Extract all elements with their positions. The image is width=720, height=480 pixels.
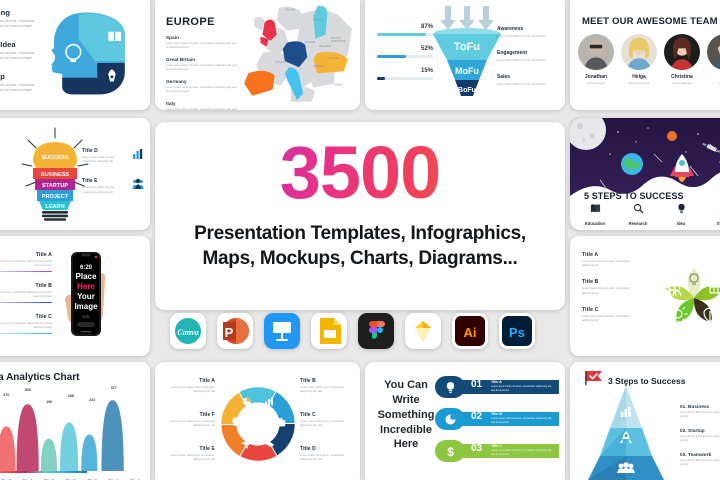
step-label: Education xyxy=(576,221,614,226)
member-role: UI/UX Designer xyxy=(578,82,614,86)
list-item: Title A Lorem ipsum dolor sit amet, cons… xyxy=(0,252,52,272)
svg-text:PROJECT: PROJECT xyxy=(42,194,69,200)
step-pill xyxy=(435,408,465,430)
head-puzzle-labels: Thinking Lorem ipsum dolor sit amet, con… xyxy=(0,8,40,104)
list-item: 03. Teamwork Lorem ipsum dolor sit amet,… xyxy=(680,452,720,467)
bulb-right-items: Title D Lorem ipsum dolor sit amet, cons… xyxy=(82,148,144,209)
avatar xyxy=(578,34,614,70)
book-icon xyxy=(590,203,601,214)
svg-text:ICELAND: ICELAND xyxy=(285,8,296,11)
list-item: Title B Lorem ipsum dolor sit amet, cons… xyxy=(582,279,630,295)
hero-number: 3500 xyxy=(155,136,565,210)
europe-country-list: Spain Lorem ipsum dolor sit amet, consec… xyxy=(166,35,238,110)
svg-text:LEARN: LEARN xyxy=(45,204,64,210)
metric-value: 87% xyxy=(377,24,433,30)
canva-icon[interactable]: Canva xyxy=(170,313,206,349)
value-label: 270 xyxy=(0,386,17,400)
member-name: Helga xyxy=(621,74,657,80)
item-label: Startup xyxy=(0,72,40,81)
avatar xyxy=(621,34,657,70)
card-team[interactable]: MEET OUR AWESOME TEAM Jonathan UI/UX Des… xyxy=(570,0,720,110)
step-title: Title A xyxy=(491,380,502,384)
item-desc: Lorem ipsum dolor sit amet, consectetur … xyxy=(82,186,128,194)
step-row: $ 03 Title C Lorem ipsum dolor sit amet,… xyxy=(435,440,559,462)
item-label: Title E xyxy=(169,446,215,452)
item-label: Title C xyxy=(0,314,52,320)
item-label: Thinking xyxy=(0,8,40,17)
card-europe-map[interactable]: EUROPE Spain Lorem ipsum dolor sit amet,… xyxy=(155,0,360,110)
card-space-steps[interactable]: 5 STEPS TO SUCCESS Education Research Id… xyxy=(570,118,720,230)
chart-plot xyxy=(0,390,146,471)
svg-text:FEDERATION: FEDERATION xyxy=(331,40,347,43)
item-label: Title D xyxy=(82,148,128,154)
funnel-graphic: ToFu MoFu BoFu xyxy=(427,2,507,102)
list-item: Thinking Lorem ipsum dolor sit amet, con… xyxy=(0,8,40,29)
card-circle-process[interactable]: Title A Lorem ipsum dolor amet, consecte… xyxy=(155,362,360,480)
value-label: 288 xyxy=(60,386,82,400)
list-item: Title F Lorem ipsum dolor amet, consecte… xyxy=(169,412,215,428)
svg-text:TURKEY: TURKEY xyxy=(334,84,344,87)
list-item: Title E Lorem ipsum dolor amet, consecte… xyxy=(169,446,215,462)
list-item: Jonathan UI/UX Designer xyxy=(578,34,614,86)
svg-text:Your: Your xyxy=(77,292,95,301)
list-item: Germany Lorem ipsum dolor sit amet, cons… xyxy=(166,79,238,94)
circle-process-graphic xyxy=(218,374,298,474)
svg-text:ToFu: ToFu xyxy=(454,41,480,53)
item-label: Title A xyxy=(169,378,215,384)
funnel-metric: 87% xyxy=(377,24,433,36)
list-item: Title D Lorem ipsum dolor sit amet, cons… xyxy=(82,148,144,164)
list-item: Christina Account Manager xyxy=(664,34,700,86)
svg-text:STARTUP: STARTUP xyxy=(42,183,68,189)
funnel-stage-info: Awareness Lorem ipsum dolor sit amet, co… xyxy=(497,26,557,38)
item-label: Title C xyxy=(582,307,630,313)
item-desc: Lorem ipsum dolor amet, consectetur adip… xyxy=(300,420,346,428)
step-number: 01 xyxy=(471,379,482,390)
svg-text:Ai: Ai xyxy=(464,325,477,340)
list-item: Startup xyxy=(705,201,720,226)
svg-text:UKRAINE: UKRAINE xyxy=(328,57,339,60)
list-item: 02. Startup Lorem ipsum dolor sit amet, … xyxy=(680,428,720,443)
item-label: Title D xyxy=(300,446,346,452)
lightbulb-icon xyxy=(676,203,687,214)
card-eco-petals[interactable]: Title A Lorem ipsum dolor sit amet, cons… xyxy=(570,236,720,356)
chart-title: Data Analytics Chart xyxy=(0,372,79,383)
card-three-steps[interactable]: You Can Write Something Incredible Here … xyxy=(365,362,565,480)
step-desc: Lorem ipsum dolor sit amet, consectetur … xyxy=(491,417,555,425)
item-desc: Lorem ipsum dolor sit amet, consectetur … xyxy=(166,64,238,72)
europe-map-graphic: RUSSIANFEDERATION UKRAINEPOLAND FRANCETU… xyxy=(234,0,356,106)
item-label: Italy xyxy=(166,101,238,106)
stage-title: Sales xyxy=(497,74,557,80)
space-steps-list: Education Research Idea Startu xyxy=(576,201,720,226)
item-desc: Lorem ipsum dolor sit amet, consectetur … xyxy=(0,83,40,93)
item-desc: Lorem ipsum dolor sit amet, consectetur … xyxy=(582,260,630,268)
card-head-puzzle[interactable]: Thinking Lorem ipsum dolor sit amet, con… xyxy=(0,0,150,110)
chart-axis xyxy=(0,471,87,473)
card-data-analytics[interactable]: Data Analytics Chart Title A Title B Ti xyxy=(0,362,150,480)
powerpoint-icon[interactable]: P xyxy=(217,313,253,349)
svg-text:SWEDEN: SWEDEN xyxy=(313,18,324,21)
step-number: 03 xyxy=(471,443,482,454)
step-pill xyxy=(435,376,465,398)
list-item: Title A Lorem ipsum dolor amet, consecte… xyxy=(169,378,215,394)
item-desc: Lorem ipsum dolor sit amet, consectetur … xyxy=(582,315,630,323)
list-item: Research xyxy=(619,201,657,226)
list-item: Title C Lorem ipsum dolor sit amet, cons… xyxy=(0,314,52,334)
magnifier-icon xyxy=(633,203,644,214)
stage-title: Awareness xyxy=(497,26,557,32)
svg-text:$: $ xyxy=(447,445,454,458)
item-label: Title F xyxy=(169,412,215,418)
item-label: Title B xyxy=(300,378,346,384)
item-desc: Lorem ipsum dolor sit amet, consectetur … xyxy=(0,260,52,268)
list-item: Great Britain Lorem ipsum dolor sit amet… xyxy=(166,57,238,72)
progress-bar xyxy=(377,55,433,58)
svg-text:POLAND: POLAND xyxy=(305,41,315,44)
item-desc: Lorem ipsum dolor sit amet, consectetur … xyxy=(0,291,52,299)
step-desc: Lorem ipsum dolor sit amet, consectetur … xyxy=(491,385,555,393)
member-role: Account Manager xyxy=(664,82,700,86)
bar-chart-icon xyxy=(132,148,144,160)
svg-text:BoFu: BoFu xyxy=(458,87,476,94)
pyramid-labels: 01. Business Lorem ipsum dolor sit amet,… xyxy=(680,404,720,476)
pie-chart-icon xyxy=(444,413,457,426)
list-item: Title B Lorem ipsum dolor amet, consecte… xyxy=(300,378,346,394)
item-desc: Lorem ipsum dolor sit amet, consectetur … xyxy=(582,287,630,295)
funnel-metric: 15% xyxy=(377,68,433,80)
item-desc: Lorem ipsum dolor amet, consectetur adip… xyxy=(169,454,215,462)
svg-text:6:20: 6:20 xyxy=(83,315,90,319)
pyramid-graphic xyxy=(584,384,668,480)
list-item: Title A Lorem ipsum dolor sit amet, cons… xyxy=(582,252,630,268)
chart-value-labels: 355 270 530 190 288 221 377 xyxy=(0,386,146,400)
underline xyxy=(0,302,52,304)
avatar xyxy=(707,34,720,70)
people-icon xyxy=(132,178,144,190)
google-slides-icon[interactable] xyxy=(311,313,347,349)
dollar-icon: $ xyxy=(444,445,457,458)
petal-labels: Title A Lorem ipsum dolor sit amet, cons… xyxy=(582,252,630,334)
list-item: Education xyxy=(576,201,614,226)
item-label: Title A xyxy=(0,252,52,258)
list-item: Title E Lorem ipsum dolor sit amet, cons… xyxy=(82,178,144,194)
hero-card[interactable]: 3500 Presentation Templates, Infographic… xyxy=(155,122,565,310)
step-title: Title B xyxy=(491,412,502,416)
item-desc: Lorem ipsum dolor sit amet, consectetur … xyxy=(0,322,52,330)
svg-text:P: P xyxy=(225,325,234,340)
step-label: Research xyxy=(619,221,657,226)
value-label: 530 xyxy=(17,386,39,400)
step-title: Title C xyxy=(491,444,502,448)
svg-text:ROMANIA: ROMANIA xyxy=(313,65,325,68)
card-pyramid[interactable]: 3 Steps to Success 01. Business Lorem ip… xyxy=(570,362,720,480)
list-item: Italy Lorem ipsum dolor sit amet, consec… xyxy=(166,101,238,110)
step-row: 02 Title B Lorem ipsum dolor sit amet, c… xyxy=(435,408,559,430)
item-desc: Lorem ipsum dolor amet, consectetur adip… xyxy=(300,386,346,394)
item-desc: Lorem ipsum dolor amet, consectetur adip… xyxy=(169,420,215,428)
sketch-icon[interactable] xyxy=(405,313,441,349)
item-desc: Lorem ipsum dolor sit amet, consectetur … xyxy=(0,51,40,61)
value-label: 221 xyxy=(82,386,104,400)
underline xyxy=(0,271,52,273)
list-item: Helga Senior Developer xyxy=(621,34,657,86)
card-title: MEET OUR AWESOME TEAM xyxy=(582,16,718,27)
phone-text-rows: Title A Lorem ipsum dolor sit amet, cons… xyxy=(0,252,52,345)
value-label: 377 xyxy=(103,386,125,400)
item-label: 01. Business xyxy=(680,404,720,409)
hero-subtitle: Presentation Templates, Infographics, Ma… xyxy=(179,222,541,271)
card-title: 5 STEPS TO SUCCESS xyxy=(584,191,684,201)
member-role: Senior Developer xyxy=(621,82,657,86)
photoshop-icon[interactable]: Ps xyxy=(499,313,535,349)
svg-text:Here: Here xyxy=(77,282,95,291)
svg-text:Canva: Canva xyxy=(177,328,198,337)
funnel-metric: 52% xyxy=(377,46,433,58)
list-item: 01. Business Lorem ipsum dolor sit amet,… xyxy=(680,404,720,419)
item-desc: Lorem ipsum dolor sit amet, consectetur … xyxy=(680,459,720,467)
item-desc: Lorem ipsum dolor sit amet, consectetur … xyxy=(0,19,40,29)
head-puzzle-graphic xyxy=(42,6,134,98)
item-desc: Lorem ipsum dolor sit amet, consectetur … xyxy=(82,156,128,164)
list-item: Alex QA Tester xyxy=(707,34,720,86)
item-desc: Lorem ipsum dolor amet, consectetur adip… xyxy=(169,386,215,394)
step-desc: Lorem ipsum dolor sit amet, consectetur … xyxy=(491,449,555,457)
step-number: 02 xyxy=(471,411,482,422)
list-item: Title C Lorem ipsum dolor sit amet, cons… xyxy=(582,307,630,323)
item-desc: Lorem ipsum dolor sit amet, consectetur … xyxy=(680,411,720,419)
item-label: 03. Teamwork xyxy=(680,452,720,457)
item-desc: Lorem ipsum dolor sit amet, consectetur … xyxy=(166,108,238,110)
progress-bar xyxy=(377,33,433,36)
value-label: 190 xyxy=(39,386,61,400)
svg-text:BUSINESS: BUSINESS xyxy=(41,172,70,178)
team-list: Jonathan UI/UX Designer Helga Senior Dev… xyxy=(578,34,720,86)
avatar xyxy=(664,34,700,70)
item-desc: Lorem ipsum dolor amet, consectetur adip… xyxy=(300,454,346,462)
list-item: Title C Lorem ipsum dolor amet, consecte… xyxy=(300,412,346,428)
svg-text:SUCCESS: SUCCESS xyxy=(41,155,68,161)
list-item: Idea xyxy=(662,201,700,226)
item-label: Title E xyxy=(82,178,128,184)
list-item: Title B Lorem ipsum dolor sit amet, cons… xyxy=(0,283,52,303)
list-item: Startup Lorem ipsum dolor sit amet, cons… xyxy=(0,72,40,93)
card-funnel[interactable]: 87% 52% 15% ToFu MoFu BoFu Aware xyxy=(365,0,565,110)
svg-text:MoFu: MoFu xyxy=(455,66,479,76)
item-label: Title C xyxy=(300,412,346,418)
member-name: Jonathan xyxy=(578,74,614,80)
item-label: Germany xyxy=(166,79,238,84)
svg-text:Image: Image xyxy=(74,302,98,311)
item-label: 02. Startup xyxy=(680,428,720,433)
phone-hand: 6:20 Place Here Your Image 6:20 xyxy=(60,250,108,350)
card-title: EUROPE xyxy=(166,16,215,28)
list-item: Great Idea Lorem ipsum dolor sit amet, c… xyxy=(0,40,40,61)
svg-text:BELARUS: BELARUS xyxy=(319,45,331,48)
item-label: Great Britain xyxy=(166,57,238,62)
svg-text:FRANCE: FRANCE xyxy=(275,61,285,64)
svg-text:Place: Place xyxy=(76,272,97,281)
app-icons-strip: Canva P xyxy=(170,313,535,349)
stage-title: Engagement xyxy=(497,50,557,56)
member-name: Alex xyxy=(707,74,720,80)
member-role: QA Tester xyxy=(707,82,720,86)
step-row: 01 Title A Lorem ipsum dolor sit amet, c… xyxy=(435,376,559,398)
step-label: Idea xyxy=(662,221,700,226)
keynote-icon[interactable] xyxy=(264,313,300,349)
stage-desc: Lorem ipsum dolor sit amet, consectetur xyxy=(497,82,557,86)
svg-text:Ps: Ps xyxy=(509,325,525,340)
funnel-stage-info: Engagement Lorem ipsum dolor sit amet, c… xyxy=(497,50,557,62)
value-label xyxy=(125,386,147,400)
item-desc: Lorem ipsum dolor sit amet, consectetur … xyxy=(166,86,238,94)
member-name: Christina xyxy=(664,74,700,80)
country-spain xyxy=(244,71,274,96)
metric-value: 52% xyxy=(377,46,433,52)
funnel-stage-info: Sales Lorem ipsum dolor sit amet, consec… xyxy=(497,74,557,86)
progress-bar xyxy=(377,77,433,80)
illustrator-icon[interactable]: Ai xyxy=(452,313,488,349)
svg-text:6:20: 6:20 xyxy=(80,265,93,271)
step-pill: $ xyxy=(435,440,465,462)
step-label: Startup xyxy=(705,221,720,226)
card-headline: You Can Write Something Incredible Here xyxy=(375,378,437,452)
petals-graphic xyxy=(644,248,720,348)
stage-desc: Lorem ipsum dolor sit amet, consectetur xyxy=(497,34,557,38)
card-lightbulb[interactable]: Title A Lorem ipsum dolor sit amet, cons… xyxy=(0,118,150,230)
metric-value: 15% xyxy=(377,68,433,74)
card-phone-mockup[interactable]: Title A Lorem ipsum dolor sit amet, cons… xyxy=(0,236,150,356)
item-label: Great Idea xyxy=(0,40,40,49)
list-item: Title D Lorem ipsum dolor amet, consecte… xyxy=(300,446,346,462)
stage-desc: Lorem ipsum dolor sit amet, consectetur xyxy=(497,58,557,62)
lightbulb-icon xyxy=(444,381,457,394)
underline xyxy=(0,333,52,335)
item-label: Title A xyxy=(582,252,630,258)
template-gallery: Thinking Lorem ipsum dolor sit amet, con… xyxy=(0,0,720,480)
item-label: Title B xyxy=(582,279,630,285)
figma-icon[interactable] xyxy=(358,313,394,349)
item-label: Title B xyxy=(0,283,52,289)
item-desc: Lorem ipsum dolor sit amet, consectetur … xyxy=(166,42,238,50)
item-desc: Lorem ipsum dolor sit amet, consectetur … xyxy=(680,435,720,443)
list-item: Spain Lorem ipsum dolor sit amet, consec… xyxy=(166,35,238,50)
item-label: Spain xyxy=(166,35,238,40)
